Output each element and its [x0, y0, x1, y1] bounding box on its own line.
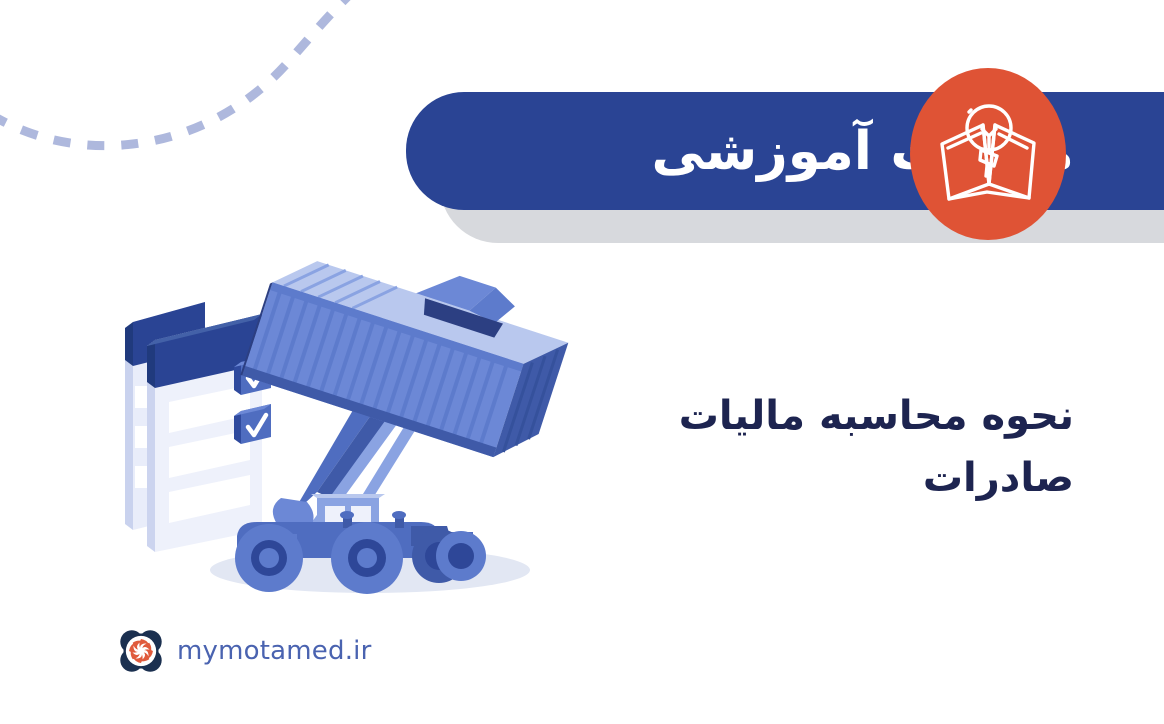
page-title: نحوه محاسبه مالیات صادرات [624, 385, 1074, 509]
badge-circle [910, 68, 1066, 240]
poster-canvas: مقالات آموزشی [0, 0, 1164, 724]
dashed-curve-decoration-icon [0, 0, 420, 170]
book-lightbulb-icon [936, 98, 1040, 210]
footer-logo[interactable]: mymotamed.ir [118, 628, 371, 674]
site-url-label: mymotamed.ir [177, 636, 371, 666]
export-container-reach-stacker-illustration [95, 240, 615, 600]
mymotamed-flower-logo-icon [118, 628, 164, 674]
